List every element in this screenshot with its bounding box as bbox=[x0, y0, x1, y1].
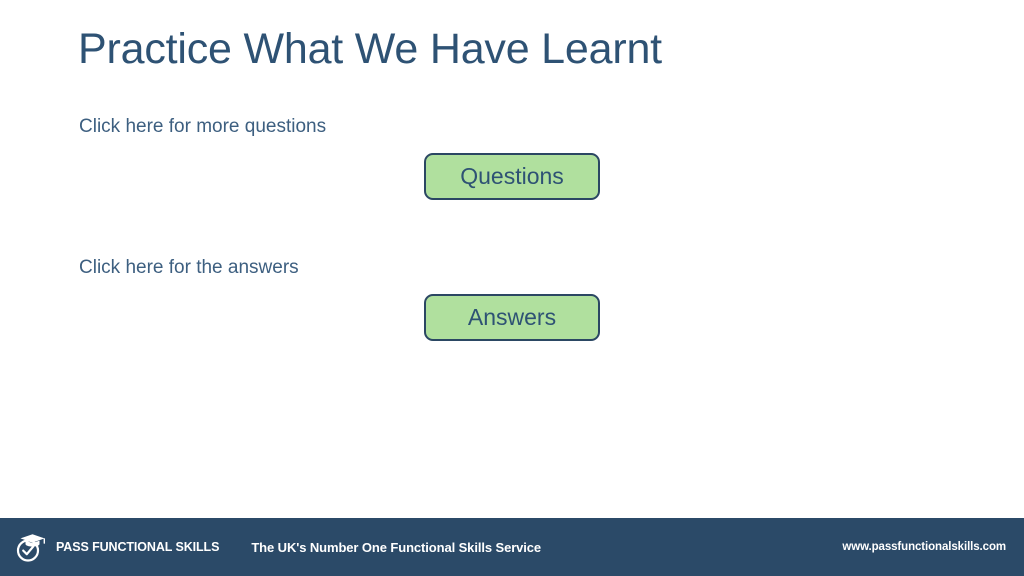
answers-button-label: Answers bbox=[468, 304, 556, 331]
brand-name: PASS FUNCTIONAL SKILLS bbox=[56, 540, 219, 554]
footer-tagline: The UK's Number One Functional Skills Se… bbox=[251, 540, 541, 555]
instruction-questions: Click here for more questions bbox=[79, 115, 326, 139]
brand-lockup: PASS FUNCTIONAL SKILLS bbox=[14, 530, 219, 564]
graduation-cap-check-icon bbox=[14, 530, 48, 564]
questions-button[interactable]: Questions bbox=[424, 153, 600, 200]
footer-url[interactable]: www.passfunctionalskills.com bbox=[842, 541, 1006, 553]
questions-button-label: Questions bbox=[460, 163, 564, 190]
instruction-answers: Click here for the answers bbox=[79, 256, 299, 280]
answers-button[interactable]: Answers bbox=[424, 294, 600, 341]
page-title: Practice What We Have Learnt bbox=[78, 25, 662, 74]
footer-bar: PASS FUNCTIONAL SKILLS The UK's Number O… bbox=[0, 518, 1024, 576]
slide: Practice What We Have Learnt Click here … bbox=[0, 0, 1024, 576]
